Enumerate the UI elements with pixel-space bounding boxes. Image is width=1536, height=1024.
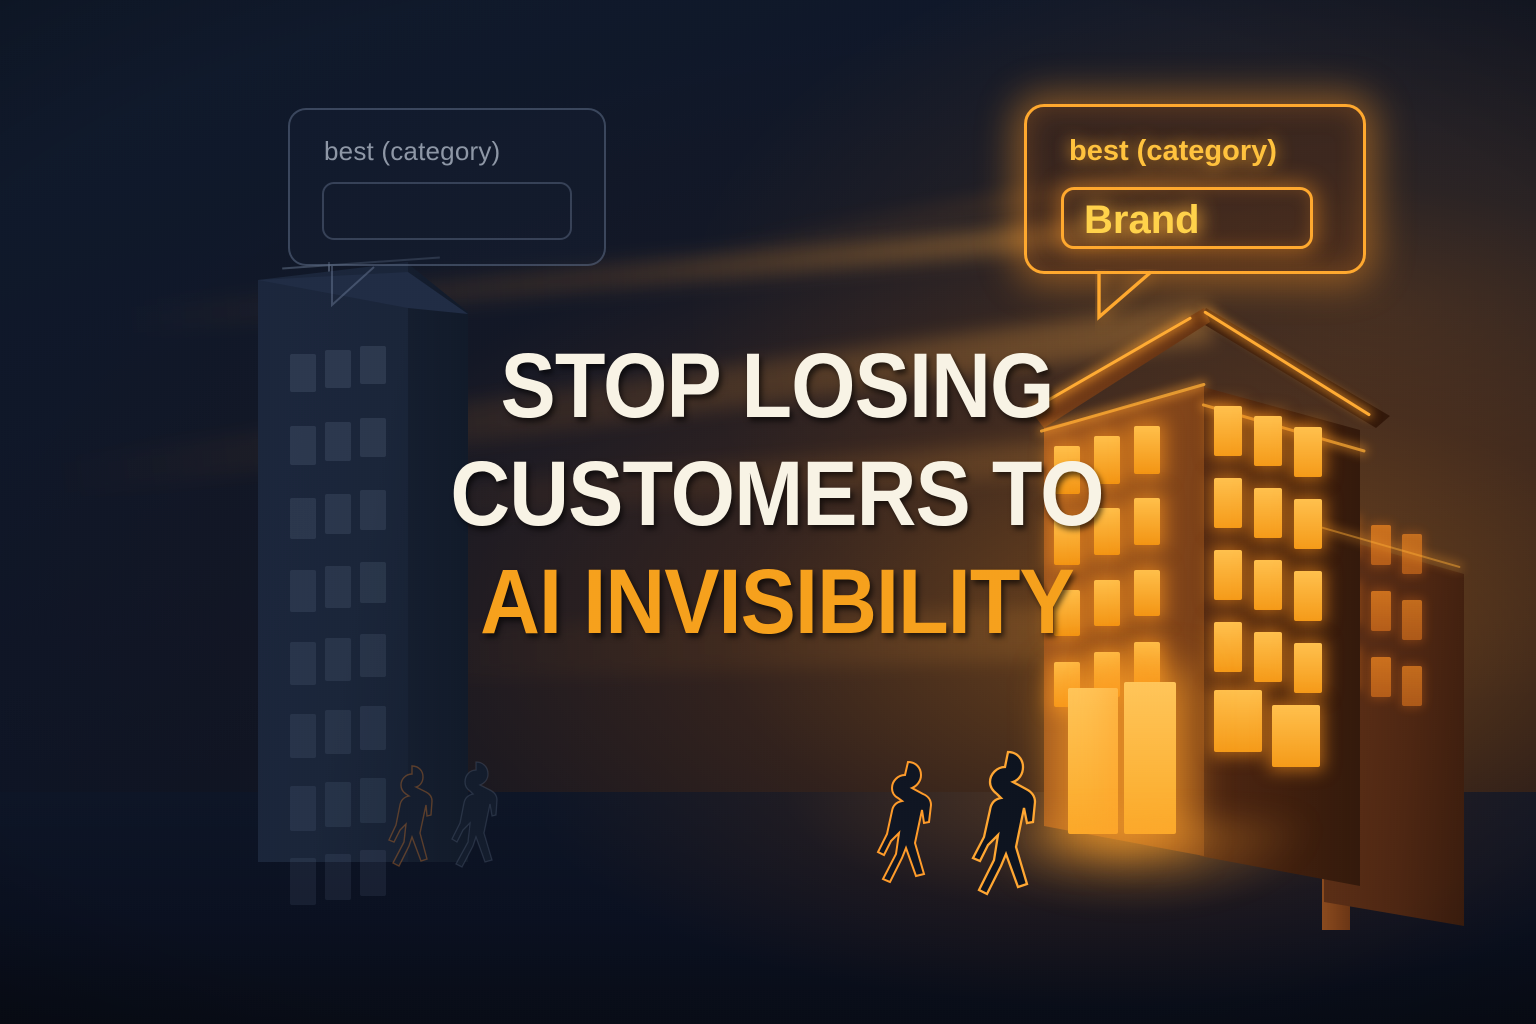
unlit-window <box>360 490 386 530</box>
unlit-window <box>360 706 386 750</box>
lit-window <box>1214 406 1242 456</box>
bubble-label-lit: best (category) <box>1069 135 1277 168</box>
annex-lit-window <box>1402 666 1422 706</box>
unlit-window <box>360 562 386 604</box>
unlit-window <box>290 354 316 392</box>
lit-window <box>1254 632 1282 682</box>
unlit-window <box>325 350 351 388</box>
lit-window <box>1254 416 1282 466</box>
headline-line-3: AI INVISIBILITY <box>413 548 1142 656</box>
annex-lit-window <box>1371 591 1391 631</box>
page-title: STOP LOSING CUSTOMERS TO AI INVISIBILITY <box>413 332 1142 656</box>
unlit-window <box>325 782 351 827</box>
lit-window <box>1294 571 1322 621</box>
unlit-window <box>290 570 316 612</box>
unlit-window <box>325 494 351 534</box>
lit-window <box>1214 550 1242 600</box>
annex-lit-window <box>1371 657 1391 697</box>
annex-lit-window <box>1402 600 1422 640</box>
unlit-window <box>360 634 386 677</box>
lit-window <box>1254 488 1282 538</box>
unlit-window <box>290 714 316 758</box>
unlit-window <box>325 854 351 900</box>
bubble-label-unlit: best (category) <box>324 136 500 167</box>
unlit-window <box>325 566 351 608</box>
pedestrian-unlit <box>444 758 508 874</box>
lit-window <box>1294 427 1322 477</box>
unlit-window <box>360 346 386 384</box>
headline-line-1: STOP LOSING <box>413 332 1142 440</box>
hero-banner: best (category) best (category) Brand ST… <box>0 0 1536 1024</box>
bubble-input-lit[interactable]: Brand <box>1061 187 1313 249</box>
speech-bubble-lit[interactable]: best (category) Brand <box>1024 104 1366 274</box>
speech-bubble-unlit[interactable]: best (category) <box>288 108 606 266</box>
unlit-window <box>360 418 386 457</box>
bubble-input-unlit[interactable] <box>322 182 572 240</box>
pedestrian-lit <box>968 748 1052 906</box>
lit-ground-window <box>1272 705 1320 767</box>
door-light-spill <box>1010 820 1430 970</box>
lit-window <box>1254 560 1282 610</box>
lit-window <box>1294 643 1322 693</box>
headline-line-2: CUSTOMERS TO <box>413 440 1142 548</box>
lit-window <box>1214 478 1242 528</box>
lit-window <box>1214 622 1242 672</box>
unlit-window <box>290 642 316 685</box>
entrance-door[interactable] <box>1124 682 1176 834</box>
lit-ground-window <box>1214 690 1262 752</box>
unlit-window <box>325 710 351 754</box>
unlit-window <box>290 426 316 465</box>
unlit-window <box>290 786 316 831</box>
entrance-door[interactable] <box>1068 688 1118 834</box>
unlit-window <box>325 422 351 461</box>
unlit-window <box>325 638 351 681</box>
pedestrian-lit <box>874 758 946 890</box>
lit-window <box>1294 499 1322 549</box>
pedestrian-unlit <box>382 762 444 874</box>
unlit-window <box>290 498 316 538</box>
bubble-tail-unlit <box>330 265 396 329</box>
unlit-window <box>290 858 316 904</box>
bubble-input-value-lit: Brand <box>1084 198 1200 243</box>
